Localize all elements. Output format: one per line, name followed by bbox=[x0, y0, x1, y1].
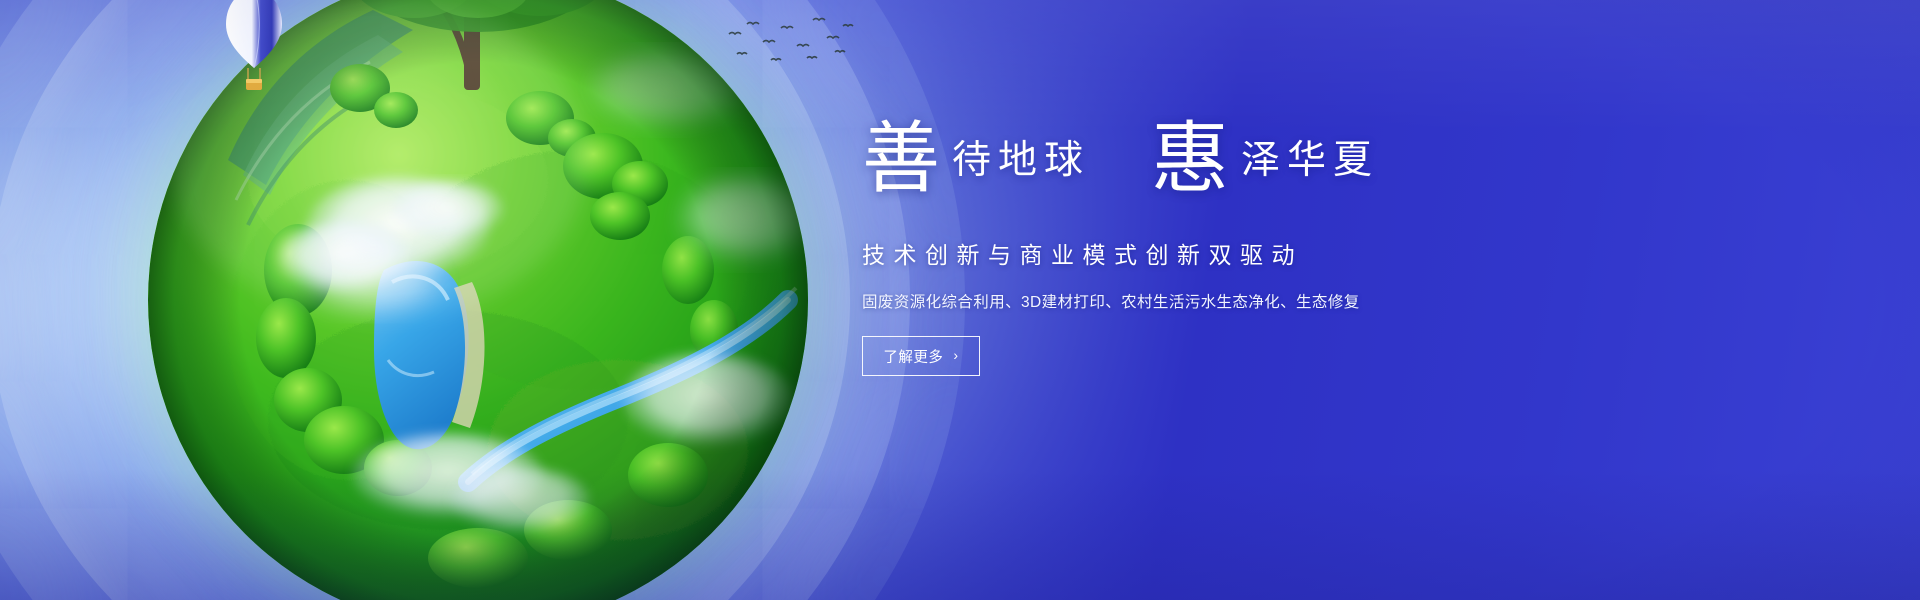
hero-banner: 善 待地球 惠 泽华夏 技术创新与商业模式创新双驱动 固废资源化综合利用、3D建… bbox=[0, 0, 1920, 600]
headline-phrase-1: 善 待地球 bbox=[862, 118, 1090, 190]
headline: 善 待地球 惠 泽华夏 bbox=[862, 118, 1482, 214]
headline-big-char-1: 善 bbox=[862, 124, 940, 196]
headline-small-text-2: 泽华夏 bbox=[1229, 141, 1379, 180]
learn-more-label: 了解更多 bbox=[883, 346, 943, 367]
description: 固废资源化综合利用、3D建材打印、农村生活污水生态净化、生态修复 bbox=[862, 290, 1482, 312]
learn-more-button[interactable]: 了解更多 › bbox=[862, 336, 980, 376]
headline-big-char-2: 惠 bbox=[1151, 124, 1229, 196]
banner-content: 善 待地球 惠 泽华夏 技术创新与商业模式创新双驱动 固废资源化综合利用、3D建… bbox=[862, 118, 1482, 376]
headline-phrase-2: 惠 泽华夏 bbox=[1151, 118, 1379, 190]
subtitle: 技术创新与商业模式创新双驱动 bbox=[862, 236, 1482, 270]
headline-small-text-1: 待地球 bbox=[940, 141, 1090, 180]
chevron-right-icon: › bbox=[953, 347, 958, 363]
